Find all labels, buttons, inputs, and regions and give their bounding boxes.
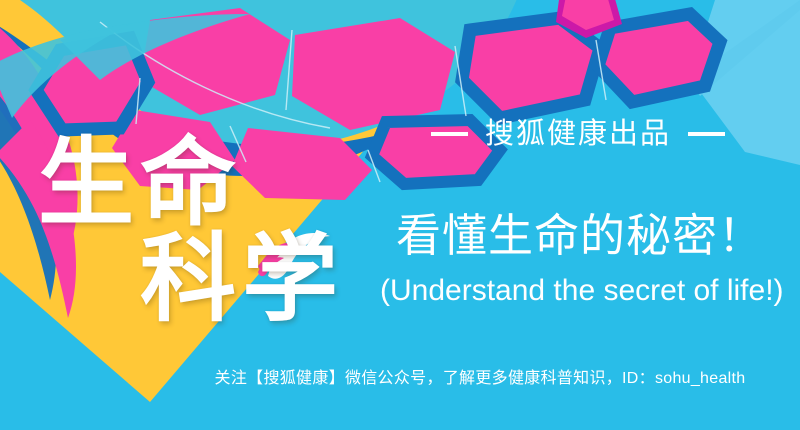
dash-right-icon (688, 132, 725, 136)
title-line-1: 生命 (38, 136, 242, 232)
promo-banner: 生命 科学 搜狐健康出品 看懂生命的秘密！ (Understand the se… (0, 0, 800, 430)
title-line-2: 科学 (140, 232, 344, 328)
kicker-row: 搜狐健康出品 (398, 108, 758, 160)
headline-main: 看懂生命的秘密！ (380, 212, 780, 259)
dash-left-icon (431, 132, 468, 136)
headline-sub: (Understand the secret of life!) (380, 273, 780, 309)
footer-note: 关注【搜狐健康】微信公众号，了解更多健康科普知识，ID：sohu_health (180, 369, 780, 388)
kicker-text: 搜狐健康出品 (485, 120, 671, 149)
